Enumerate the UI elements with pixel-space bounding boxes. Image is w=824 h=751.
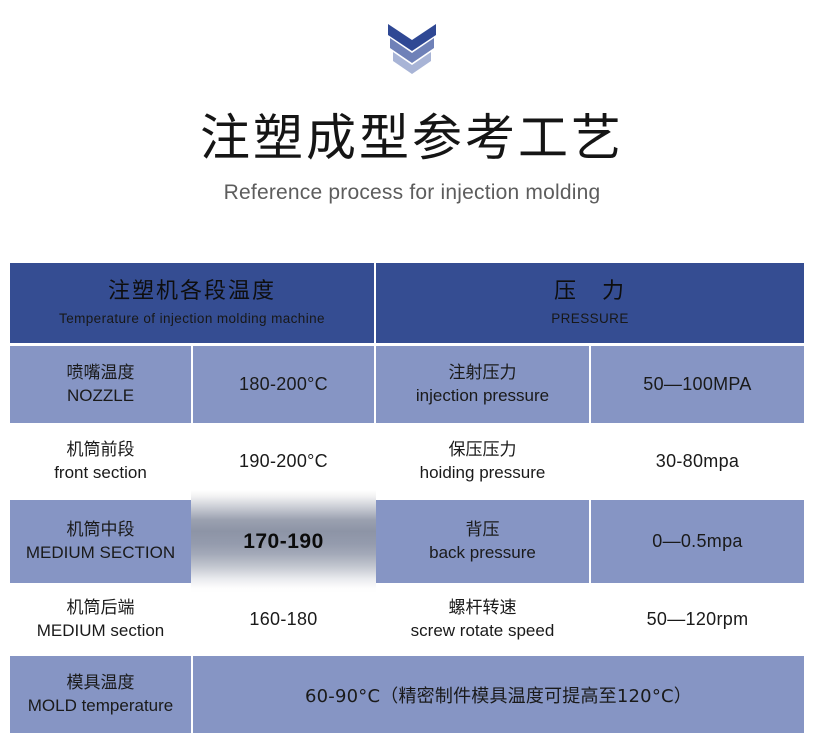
mold-label-en: MOLD temperature xyxy=(28,695,174,718)
temp-value-cell: 190-200°C xyxy=(193,426,374,497)
pressure-label-cell: 背压 back pressure xyxy=(376,500,589,583)
pressure-value-cell: 50—120rpm xyxy=(591,586,804,653)
pressure-label-cn: 保压压力 xyxy=(449,439,517,462)
pressure-value: 50—100MPA xyxy=(643,374,751,395)
group-header-temperature-en: Temperature of injection molding machine xyxy=(59,310,325,328)
pressure-value: 50—120rpm xyxy=(647,609,749,630)
temp-value-cell-highlighted: 170-190 xyxy=(193,500,374,583)
temp-label-cell: 机筒前段 front section xyxy=(10,426,191,497)
pressure-label-en: injection pressure xyxy=(416,385,549,408)
temp-label-cn: 机筒前段 xyxy=(67,439,135,462)
temp-label-cell: 喷嘴温度 NOZZLE xyxy=(10,346,191,423)
page-header: 注塑成型参考工艺 Reference process for injection… xyxy=(0,0,824,205)
temp-label-en: MEDIUM SECTION xyxy=(26,542,175,565)
pressure-value: 30-80mpa xyxy=(656,451,739,472)
pressure-label-en: screw rotate speed xyxy=(411,620,555,643)
pressure-label-cn: 螺杆转速 xyxy=(449,597,517,620)
group-header-temperature-cn: 注塑机各段温度 xyxy=(108,278,276,307)
pressure-label-cn: 注射压力 xyxy=(449,362,517,385)
table-row-highlighted: 机筒中段 MEDIUM SECTION 170-190 背压 back pres… xyxy=(10,500,804,583)
mold-label-cell: 模具温度 MOLD temperature xyxy=(10,656,191,733)
temp-label-cn: 喷嘴温度 xyxy=(67,362,135,385)
temp-label-en: MEDIUM section xyxy=(37,620,165,643)
temp-label-cn: 机筒后端 xyxy=(67,597,135,620)
temp-value-cell: 180-200°C xyxy=(193,346,374,423)
group-header-pressure-en: PRESSURE xyxy=(551,310,628,328)
injection-molding-spec-table: 注塑机各段温度 Temperature of injection molding… xyxy=(8,260,806,736)
temp-value: 170-190 xyxy=(243,530,324,554)
temp-value: 180-200°C xyxy=(239,374,328,395)
pressure-value: 0—0.5mpa xyxy=(652,531,742,552)
temp-label-en: NOZZLE xyxy=(67,385,134,408)
pressure-label-cell: 注射压力 injection pressure xyxy=(376,346,589,423)
group-header-pressure: 压 力 PRESSURE xyxy=(376,263,804,343)
spec-table-wrapper: 注塑机各段温度 Temperature of injection molding… xyxy=(8,260,806,736)
metallic-highlight-overlay: 170-190 xyxy=(191,490,376,593)
temp-label-en: front section xyxy=(54,462,147,485)
table-row-mold-temperature: 模具温度 MOLD temperature 60-90°C（精密制件模具温度可提… xyxy=(10,656,804,733)
page-title: 注塑成型参考工艺 xyxy=(0,112,824,165)
table-row: 喷嘴温度 NOZZLE 180-200°C 注射压力 injection pre… xyxy=(10,346,804,423)
pressure-label-en: hoiding pressure xyxy=(420,462,546,485)
temp-label-cn: 机筒中段 xyxy=(67,519,135,542)
triple-chevron-down-icon xyxy=(384,22,440,76)
temp-value-cell: 160-180 xyxy=(193,586,374,653)
pressure-label-cn: 背压 xyxy=(466,519,500,542)
temp-value: 160-180 xyxy=(249,609,317,630)
mold-label-cn: 模具温度 xyxy=(67,672,135,695)
page-subtitle: Reference process for injection molding xyxy=(0,181,824,205)
pressure-value-cell: 50—100MPA xyxy=(591,346,804,423)
pressure-label-cell: 保压压力 hoiding pressure xyxy=(376,426,589,497)
pressure-label-en: back pressure xyxy=(429,542,536,565)
table-row: 机筒后端 MEDIUM section 160-180 螺杆转速 screw r… xyxy=(10,586,804,653)
pressure-value-cell: 0—0.5mpa xyxy=(591,500,804,583)
table-group-header-row: 注塑机各段温度 Temperature of injection molding… xyxy=(10,263,804,343)
pressure-value-cell: 30-80mpa xyxy=(591,426,804,497)
group-header-pressure-cn: 压 力 xyxy=(554,278,626,307)
group-header-temperature: 注塑机各段温度 Temperature of injection molding… xyxy=(10,263,374,343)
table-row: 机筒前段 front section 190-200°C 保压压力 hoidin… xyxy=(10,426,804,497)
mold-note: 60-90°C（精密制件模具温度可提高至120°C） xyxy=(305,682,692,708)
pressure-label-cell: 螺杆转速 screw rotate speed xyxy=(376,586,589,653)
temp-label-cell: 机筒后端 MEDIUM section xyxy=(10,586,191,653)
temp-value: 190-200°C xyxy=(239,451,328,472)
mold-note-cell: 60-90°C（精密制件模具温度可提高至120°C） xyxy=(193,656,804,733)
temp-label-cell: 机筒中段 MEDIUM SECTION xyxy=(10,500,191,583)
